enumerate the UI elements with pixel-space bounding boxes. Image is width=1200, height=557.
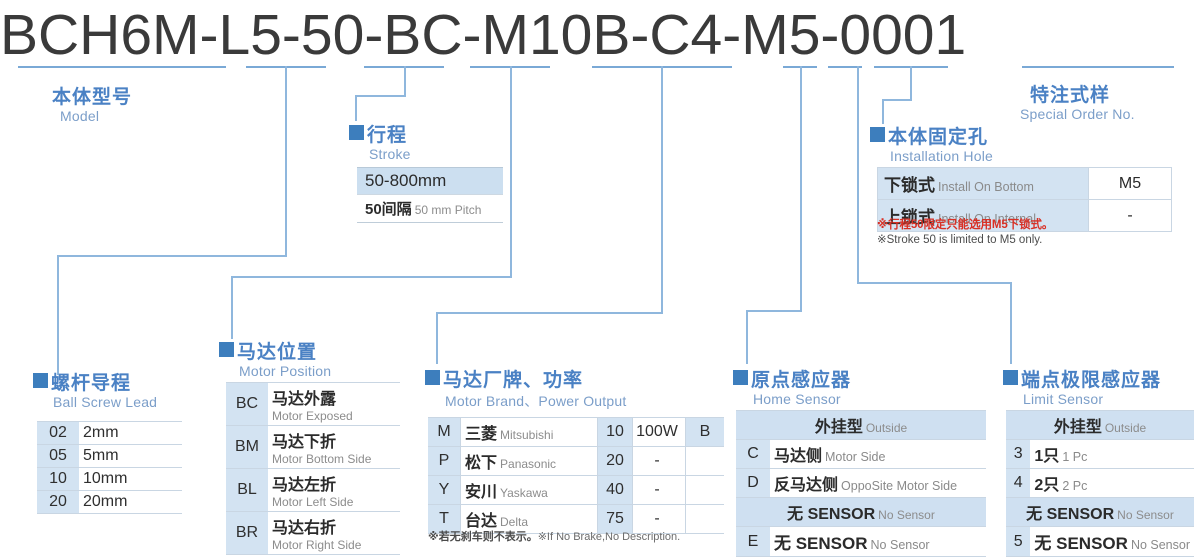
code-segment-lead: L5 <box>219 4 282 66</box>
limit-sensor-cn-0: 1只 <box>1034 448 1059 465</box>
motor-brand-en-0: Mitsubishi <box>500 428 553 442</box>
stroke-pitch-row: 50间隔50 mm Pitch <box>357 195 503 223</box>
connector-stroke-v1 <box>404 66 406 96</box>
limit-sensor-title-cn: 端点极限感应器 <box>1021 365 1161 392</box>
limit-sensor-cn-2: 无 SENSOR <box>1034 534 1128 553</box>
motor-brand-code-1: P <box>428 447 461 476</box>
stroke-table: 50-800mm 50间隔50 mm Pitch <box>357 167 503 223</box>
motor-brand-table: M 三菱Mitsubishi 10 100W B P 松下Panasonic 2… <box>428 417 724 534</box>
table-row: BC 马达外露 Motor Exposed <box>226 383 400 426</box>
limit-sensor-en-0: 1 Pc <box>1062 450 1087 464</box>
motor-brand-en-1: Panasonic <box>500 457 556 471</box>
limit-sensor-group2-cn: 无 SENSOR <box>1026 506 1114 523</box>
home-sensor-group1-en: Outside <box>866 421 907 435</box>
motor-position-label-1: 马达下折 Motor Bottom Side <box>268 426 400 469</box>
limit-sensor-label-2: 无 SENSORNo Sensor <box>1030 527 1194 557</box>
home-sensor-cn-2: 无 SENSOR <box>774 534 868 553</box>
installation-hole-note-en-wrap: ※Stroke 50 is limited to M5 only. <box>877 230 1042 248</box>
motor-brake-code-3 <box>686 505 725 534</box>
limit-sensor-en-2: No Sensor <box>1131 538 1190 552</box>
installation-hole-title-en: Installation Hole <box>890 148 993 164</box>
section-motor-brand: 马达厂牌、功率 Motor Brand、Power Output <box>425 365 626 411</box>
code-segment-install-hole: M5 <box>741 4 820 66</box>
motor-position-code-1: BM <box>226 426 268 469</box>
connector-lead-h1 <box>57 255 287 257</box>
connector-limit-sensor-v2 <box>1010 282 1012 364</box>
table-row: Y 安川Yaskawa 40 - <box>428 476 724 505</box>
stroke-pitch-en: 50 mm Pitch <box>415 203 482 217</box>
motor-brand-note-en: ※If No Brake,No Description. <box>538 531 681 543</box>
code-separator-5: - <box>630 4 649 66</box>
motor-brand-cn-2: 安川 <box>465 484 497 501</box>
limit-sensor-group1-en: Outside <box>1105 421 1146 435</box>
motor-brake-code-1 <box>686 447 725 476</box>
motor-brand-name-2: 安川Yaskawa <box>461 476 598 505</box>
installation-hole-value-internal: - <box>1089 200 1172 232</box>
connector-home-sensor-h1 <box>746 310 802 312</box>
stroke-title-cn: 行程 <box>367 120 407 147</box>
table-row: M 三菱Mitsubishi 10 100W B <box>428 418 724 447</box>
limit-sensor-code-0: 3 <box>1006 440 1030 469</box>
connector-motor-brand-v1 <box>661 66 663 313</box>
ball-screw-lead-value-1: 5mm <box>79 445 182 468</box>
ball-screw-lead-bullet-icon <box>33 373 48 388</box>
motor-position-label-2: 马达左折 Motor Left Side <box>268 469 400 512</box>
stroke-pitch-cn: 50间隔 <box>365 201 412 218</box>
limit-sensor-cn-1: 2只 <box>1034 477 1059 494</box>
code-segment-motor-position: BC <box>383 4 462 66</box>
motor-position-en-1: Motor Bottom Side <box>272 452 396 466</box>
motor-brand-code-0: M <box>428 418 461 447</box>
ball-screw-lead-title-en: Ball Screw Lead <box>53 394 157 410</box>
motor-brand-code-2: Y <box>428 476 461 505</box>
motor-position-title-en: Motor Position <box>239 363 331 379</box>
connector-lead-v1 <box>285 66 287 256</box>
code-segment-model: BCH6M <box>0 4 200 66</box>
table-row: 下锁式Install On Bottom M5 <box>878 168 1172 200</box>
table-row: 无 SENSORNo Sensor <box>1006 498 1194 527</box>
motor-position-cn-3: 马达右折 <box>272 514 396 538</box>
limit-sensor-table: 外挂型Outside 3 1只1 Pc 4 2只2 Pc 无 SENSORNo … <box>1006 410 1194 557</box>
limit-sensor-en-1: 2 Pc <box>1062 479 1087 493</box>
motor-brand-name-0: 三菱Mitsubishi <box>461 418 598 447</box>
section-model: 本体型号 Model <box>52 82 132 124</box>
motor-position-cn-2: 马达左折 <box>272 471 396 495</box>
code-segment-stroke: 50 <box>301 4 364 66</box>
home-sensor-code-1: D <box>736 469 770 498</box>
stroke-bullet-icon <box>349 125 364 140</box>
table-row: 10 10mm <box>37 468 182 491</box>
ball-screw-lead-code-0: 02 <box>37 422 79 445</box>
motor-position-bullet-icon <box>219 342 234 357</box>
home-sensor-en-2: No Sensor <box>871 538 930 552</box>
code-separator-7: - <box>820 4 839 66</box>
underline-special-order <box>1022 66 1174 68</box>
code-segment-limit-sensor: 4 <box>691 4 723 66</box>
connector-motor-brand-h1 <box>436 312 663 314</box>
code-segment-motor-brand: M10B <box>481 4 630 66</box>
limit-sensor-title-en: Limit Sensor <box>1023 391 1161 407</box>
table-row: D 反马达侧OppoSite Motor Side <box>736 469 986 498</box>
home-sensor-group2-en: No Sensor <box>878 508 935 522</box>
connector-limit-sensor-v1 <box>857 66 859 283</box>
home-sensor-title-cn: 原点感应器 <box>751 365 851 392</box>
home-sensor-group-nosensor: 无 SENSORNo Sensor <box>736 498 986 527</box>
motor-position-en-3: Motor Right Side <box>272 538 396 552</box>
ball-screw-lead-table: 02 2mm 05 5mm 10 10mm 20 20mm <box>37 421 182 514</box>
home-sensor-group2-cn: 无 SENSOR <box>787 506 875 523</box>
table-row: E 无 SENSORNo Sensor <box>736 527 986 557</box>
section-home-sensor: 原点感应器 Home Sensor <box>733 365 851 407</box>
motor-power-code-0: 10 <box>598 418 633 447</box>
ball-screw-lead-value-0: 2mm <box>79 422 182 445</box>
connector-install-hole-v2 <box>882 99 884 124</box>
motor-position-code-3: BR <box>226 512 268 555</box>
motor-power-code-2: 40 <box>598 476 633 505</box>
connector-motor-position-v2 <box>231 276 233 339</box>
motor-brand-bullet-icon <box>425 370 440 385</box>
special-order-title-cn: 特注式样 <box>1030 80 1110 107</box>
motor-brand-en-3: Delta <box>500 515 528 529</box>
table-row: P 松下Panasonic 20 - <box>428 447 724 476</box>
connector-install-hole-h1 <box>882 99 912 101</box>
table-row: 3 1只1 Pc <box>1006 440 1194 469</box>
connector-home-sensor-v2 <box>746 310 748 364</box>
installation-hole-value-bottom: M5 <box>1089 168 1172 200</box>
connector-install-hole-v1 <box>910 66 912 100</box>
home-sensor-group-outside: 外挂型Outside <box>736 411 986 440</box>
installation-hole-title-cn: 本体固定孔 <box>888 122 988 149</box>
home-sensor-code-2: E <box>736 527 770 557</box>
ball-screw-lead-value-2: 10mm <box>79 468 182 491</box>
home-sensor-cn-1: 反马达侧 <box>774 477 838 494</box>
ball-screw-lead-title-cn: 螺杆导程 <box>51 368 131 395</box>
limit-sensor-code-2: 5 <box>1006 527 1030 557</box>
installation-hole-bullet-icon <box>870 127 885 142</box>
motor-brand-cn-0: 三菱 <box>465 426 497 443</box>
connector-motor-position-h1 <box>231 276 512 278</box>
limit-sensor-code-1: 4 <box>1006 469 1030 498</box>
section-motor-position: 马达位置 Motor Position <box>219 337 331 379</box>
limit-sensor-label-0: 1只1 Pc <box>1030 440 1194 469</box>
ball-screw-lead-code-1: 05 <box>37 445 79 468</box>
motor-position-cn-1: 马达下折 <box>272 428 396 452</box>
connector-stroke-h1 <box>355 95 406 97</box>
motor-brand-name-1: 松下Panasonic <box>461 447 598 476</box>
home-sensor-group1-cn: 外挂型 <box>815 419 863 436</box>
table-row: C 马达侧Motor Side <box>736 440 986 469</box>
section-ball-screw-lead: 螺杆导程 Ball Screw Lead <box>33 368 157 410</box>
limit-sensor-group2-en: No Sensor <box>1117 508 1174 522</box>
motor-brand-note-cn: ※若无刹车则不表示。 <box>428 531 538 543</box>
limit-sensor-group-outside: 外挂型Outside <box>1006 411 1194 440</box>
motor-brand-cn-1: 松下 <box>465 455 497 472</box>
table-row: 02 2mm <box>37 422 182 445</box>
table-row: 外挂型Outside <box>1006 411 1194 440</box>
special-order-title-en: Special Order No. <box>1020 106 1135 122</box>
home-sensor-code-0: C <box>736 440 770 469</box>
motor-power-value-1: - <box>633 447 686 476</box>
motor-position-table: BC 马达外露 Motor Exposed BM 马达下折 Motor Bott… <box>226 382 400 555</box>
motor-position-cn-0: 马达外露 <box>272 385 396 409</box>
connector-lead-v2 <box>57 255 59 375</box>
product-code-line: BCH6M-L5-50-BC-M10B-C4-M5-0001 <box>0 4 1200 66</box>
table-row: 05 5mm <box>37 445 182 468</box>
stroke-range-row: 50-800mm <box>357 167 503 195</box>
table-row: 无 SENSORNo Sensor <box>736 498 986 527</box>
connector-home-sensor-v1 <box>800 66 802 311</box>
home-sensor-label-0: 马达侧Motor Side <box>770 440 986 469</box>
table-row: 5 无 SENSORNo Sensor <box>1006 527 1194 557</box>
limit-sensor-label-1: 2只2 Pc <box>1030 469 1194 498</box>
home-sensor-title-en: Home Sensor <box>753 391 851 407</box>
model-title-en: Model <box>60 108 132 124</box>
connector-stroke-v2 <box>355 95 357 121</box>
code-separator-1: - <box>200 4 219 66</box>
ball-screw-lead-code-3: 20 <box>37 491 79 514</box>
code-separator-4: - <box>462 4 481 66</box>
connector-limit-sensor-h1 <box>857 282 1012 284</box>
table-row: BL 马达左折 Motor Left Side <box>226 469 400 512</box>
code-segment-home-sensor: C <box>649 4 690 66</box>
table-row: BM 马达下折 Motor Bottom Side <box>226 426 400 469</box>
table-row: 4 2只2 Pc <box>1006 469 1194 498</box>
installation-hole-note-en: ※Stroke 50 is limited to M5 only. <box>877 234 1042 246</box>
home-sensor-label-2: 无 SENSORNo Sensor <box>770 527 986 557</box>
motor-brand-title-en: Motor Brand、Power Output <box>445 391 626 411</box>
code-separator-3: - <box>364 4 383 66</box>
section-installation-hole: 本体固定孔 Installation Hole <box>870 122 993 164</box>
motor-brake-code-2 <box>686 476 725 505</box>
motor-power-code-1: 20 <box>598 447 633 476</box>
model-title-cn: 本体型号 <box>52 82 132 109</box>
motor-position-code-2: BL <box>226 469 268 512</box>
ball-screw-lead-code-2: 10 <box>37 468 79 491</box>
installation-hole-cn-bottom: 下锁式 <box>884 176 935 195</box>
home-sensor-en-0: Motor Side <box>825 450 885 464</box>
section-special-order: 特注式样 Special Order No. <box>1030 80 1135 122</box>
code-separator-6: - <box>722 4 741 66</box>
section-limit-sensor: 端点极限感应器 Limit Sensor <box>1003 365 1161 407</box>
motor-position-en-2: Motor Left Side <box>272 495 396 509</box>
underline-model <box>18 66 226 68</box>
limit-sensor-bullet-icon <box>1003 370 1018 385</box>
table-row: BR 马达右折 Motor Right Side <box>226 512 400 555</box>
limit-sensor-group-nosensor: 无 SENSORNo Sensor <box>1006 498 1194 527</box>
home-sensor-cn-0: 马达侧 <box>774 448 822 465</box>
home-sensor-label-1: 反马达侧OppoSite Motor Side <box>770 469 986 498</box>
motor-brand-title-cn: 马达厂牌、功率 <box>443 365 583 392</box>
motor-power-value-0: 100W <box>633 418 686 447</box>
connector-motor-position-v1 <box>510 66 512 277</box>
motor-power-value-2: - <box>633 476 686 505</box>
motor-brand-footnote: ※若无刹车则不表示。※If No Brake,No Description. <box>428 528 680 544</box>
stroke-title-en: Stroke <box>369 146 411 162</box>
code-segment-special-order: 0001 <box>839 4 966 66</box>
installation-hole-label-bottom: 下锁式Install On Bottom <box>878 168 1089 200</box>
motor-position-label-3: 马达右折 Motor Right Side <box>268 512 400 555</box>
ball-screw-lead-value-3: 20mm <box>79 491 182 514</box>
code-separator-2: - <box>282 4 301 66</box>
motor-position-en-0: Motor Exposed <box>272 409 396 423</box>
section-stroke: 行程 Stroke <box>349 120 411 162</box>
table-row: 外挂型Outside <box>736 411 986 440</box>
motor-position-title-cn: 马达位置 <box>237 337 317 364</box>
home-sensor-en-1: OppoSite Motor Side <box>841 479 957 493</box>
motor-brand-en-2: Yaskawa <box>500 486 548 500</box>
motor-brake-code-0: B <box>686 418 725 447</box>
motor-position-label-0: 马达外露 Motor Exposed <box>268 383 400 426</box>
table-row: 20 20mm <box>37 491 182 514</box>
limit-sensor-group1-cn: 外挂型 <box>1054 419 1102 436</box>
home-sensor-table: 外挂型Outside C 马达侧Motor Side D 反马达侧OppoSit… <box>736 410 986 557</box>
home-sensor-bullet-icon <box>733 370 748 385</box>
installation-hole-en-bottom: Install On Bottom <box>938 180 1034 194</box>
connector-motor-brand-v2 <box>436 312 438 364</box>
motor-position-code-0: BC <box>226 383 268 426</box>
